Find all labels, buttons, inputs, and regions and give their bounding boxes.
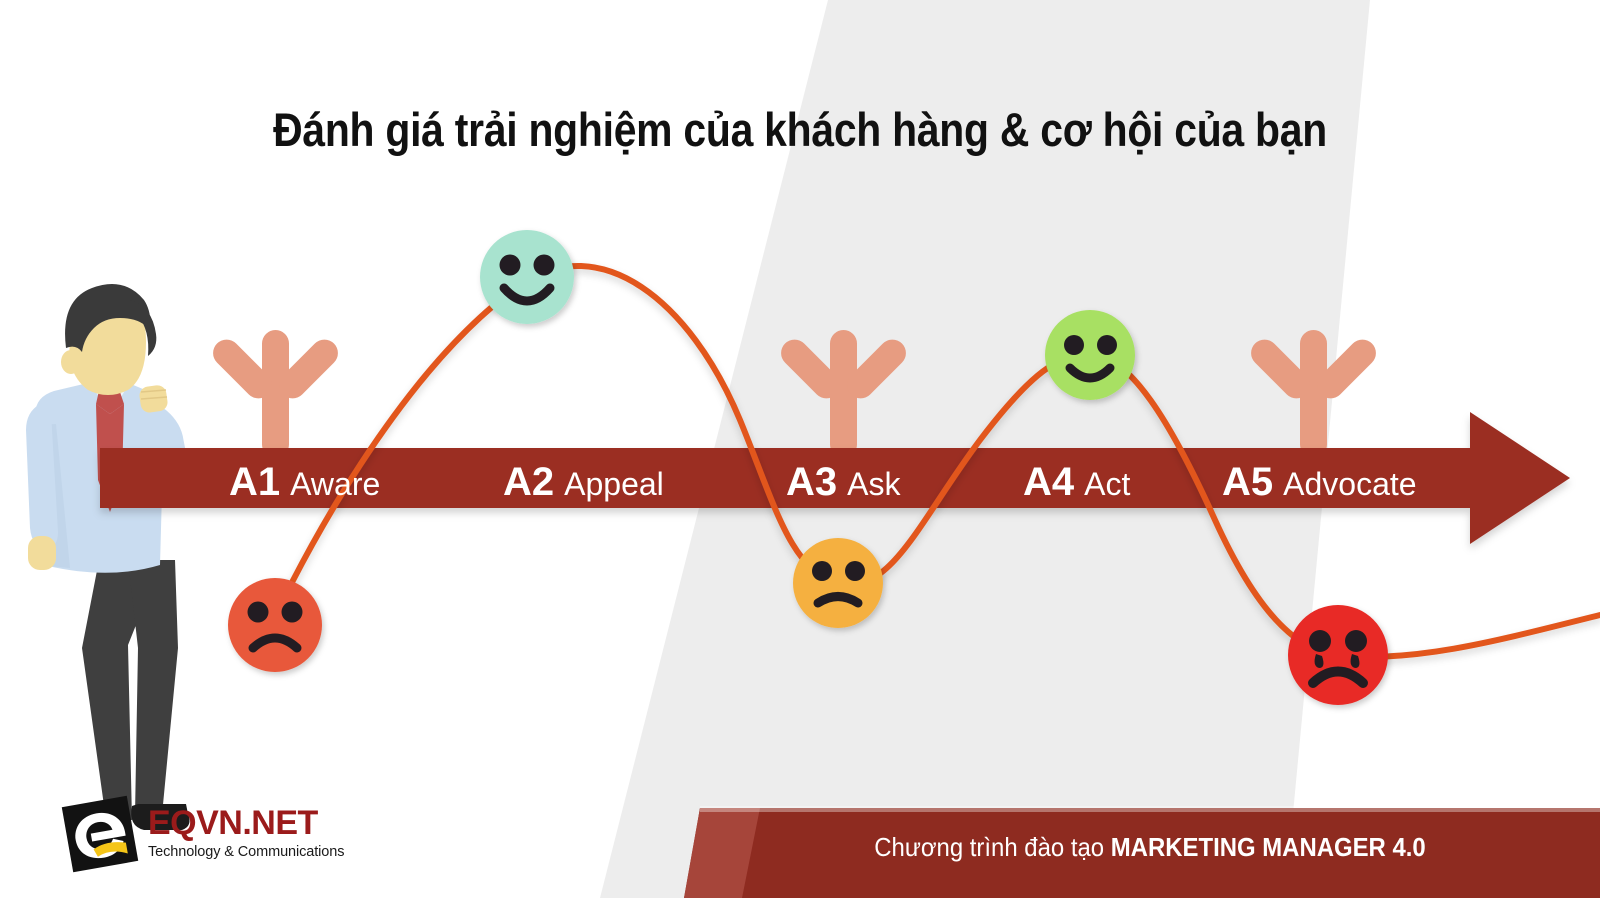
eqvn-logo[interactable]: EQVN.NET Technology & Communications [60,792,350,878]
stage-name-a2: Appeal [564,466,664,502]
stage-code-a5: A5 [1222,460,1273,504]
stage-code-a1: A1 [229,460,280,504]
stage-name-a5: Advocate [1283,466,1416,502]
stage-label-a3[interactable]: A3Ask [786,462,900,502]
up-arrow-a3 [775,330,911,458]
banner-emphasis: MARKETING MANAGER 4.0 [1111,832,1426,862]
stage-label-a1[interactable]: A1Aware [229,462,380,502]
logo-name: EQVN.NET [148,806,344,840]
banner-caption: Chương trình đào tạo MARKETING MANAGER 4… [754,832,1545,863]
businessman-figure [26,284,198,832]
infographic-canvas: Đánh giá trải nghiệm của khách hàng & cơ… [0,0,1600,898]
stage-label-a4[interactable]: A4Act [1023,462,1130,502]
stage-name-a4: Act [1084,466,1130,502]
logo-tagline: Technology & Communications [148,845,344,860]
stage-name-a1: Aware [290,466,380,502]
logo-mark-icon [60,794,140,874]
face-a3-slightly-sad [793,538,883,628]
banner-prefix: Chương trình đào tạo [874,832,1110,862]
face-a2-happy [480,230,574,324]
logo-text-block: EQVN.NET Technology & Communications [148,806,344,860]
face-a5-crying [1288,605,1388,705]
stage-code-a3: A3 [786,460,837,504]
stage-code-a4: A4 [1023,460,1074,504]
stage-label-a5[interactable]: A5Advocate [1222,462,1417,502]
stage-label-a2[interactable]: A2Appeal [503,462,664,502]
up-arrow-a1 [207,330,343,458]
page-title: Đánh giá trải nghiệm của khách hàng & cơ… [104,102,1496,157]
face-a4-happy [1045,310,1135,400]
stage-code-a2: A2 [503,460,554,504]
banner-top-highlight [700,806,1600,812]
up-arrow-a5 [1245,330,1381,458]
stage-name-a3: Ask [847,466,900,502]
left-hand [28,536,56,570]
face-a1-sad [228,578,322,672]
